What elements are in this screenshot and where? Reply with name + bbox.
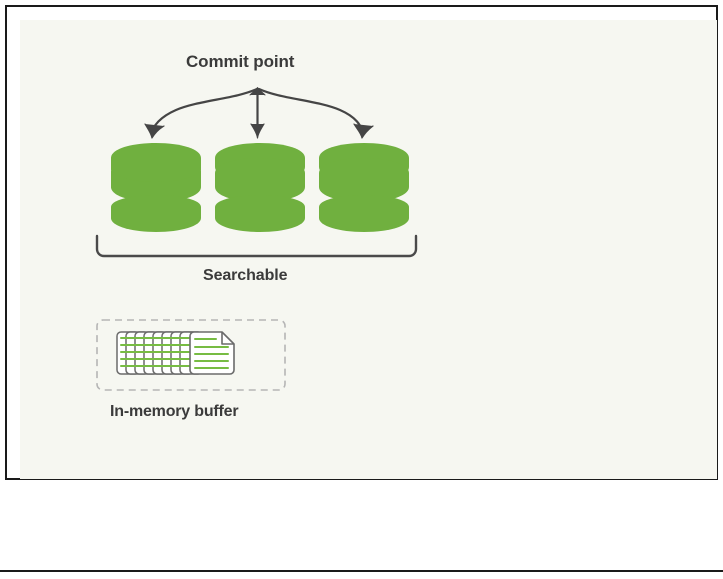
label-searchable: Searchable <box>203 267 287 285</box>
segment-cylinder-1 <box>111 143 201 232</box>
segment-cylinder-2 <box>215 143 305 232</box>
figure-page: Commit point Searchable In-memory buffer <box>0 0 723 579</box>
segments-group <box>111 143 409 232</box>
label-commit-point: Commit point <box>186 52 294 72</box>
segment-cylinder-3 <box>319 143 409 232</box>
label-in-memory-buffer: In-memory buffer <box>110 403 238 421</box>
document-stack-icon <box>117 332 234 374</box>
page-bottom-rule <box>0 570 723 572</box>
